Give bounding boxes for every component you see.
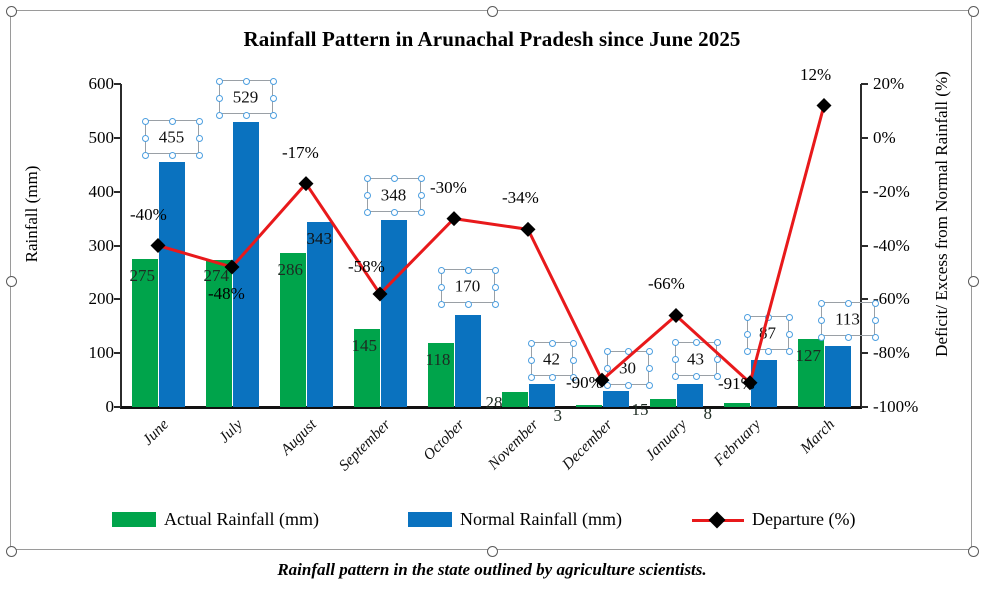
selection-handle-mid-right[interactable] [968,276,979,287]
selection-handle-bottom-center[interactable] [487,546,498,557]
selection-handle-top-right[interactable] [968,6,979,17]
selection-handle-top-left[interactable] [6,6,17,17]
selection-handle-top-center[interactable] [487,6,498,17]
selection-frame[interactable] [10,10,972,550]
selection-handle-bottom-right[interactable] [968,546,979,557]
selection-handle-mid-left[interactable] [6,276,17,287]
figure-caption: Rainfall pattern in the state outlined b… [0,560,984,580]
selection-handle-bottom-left[interactable] [6,546,17,557]
